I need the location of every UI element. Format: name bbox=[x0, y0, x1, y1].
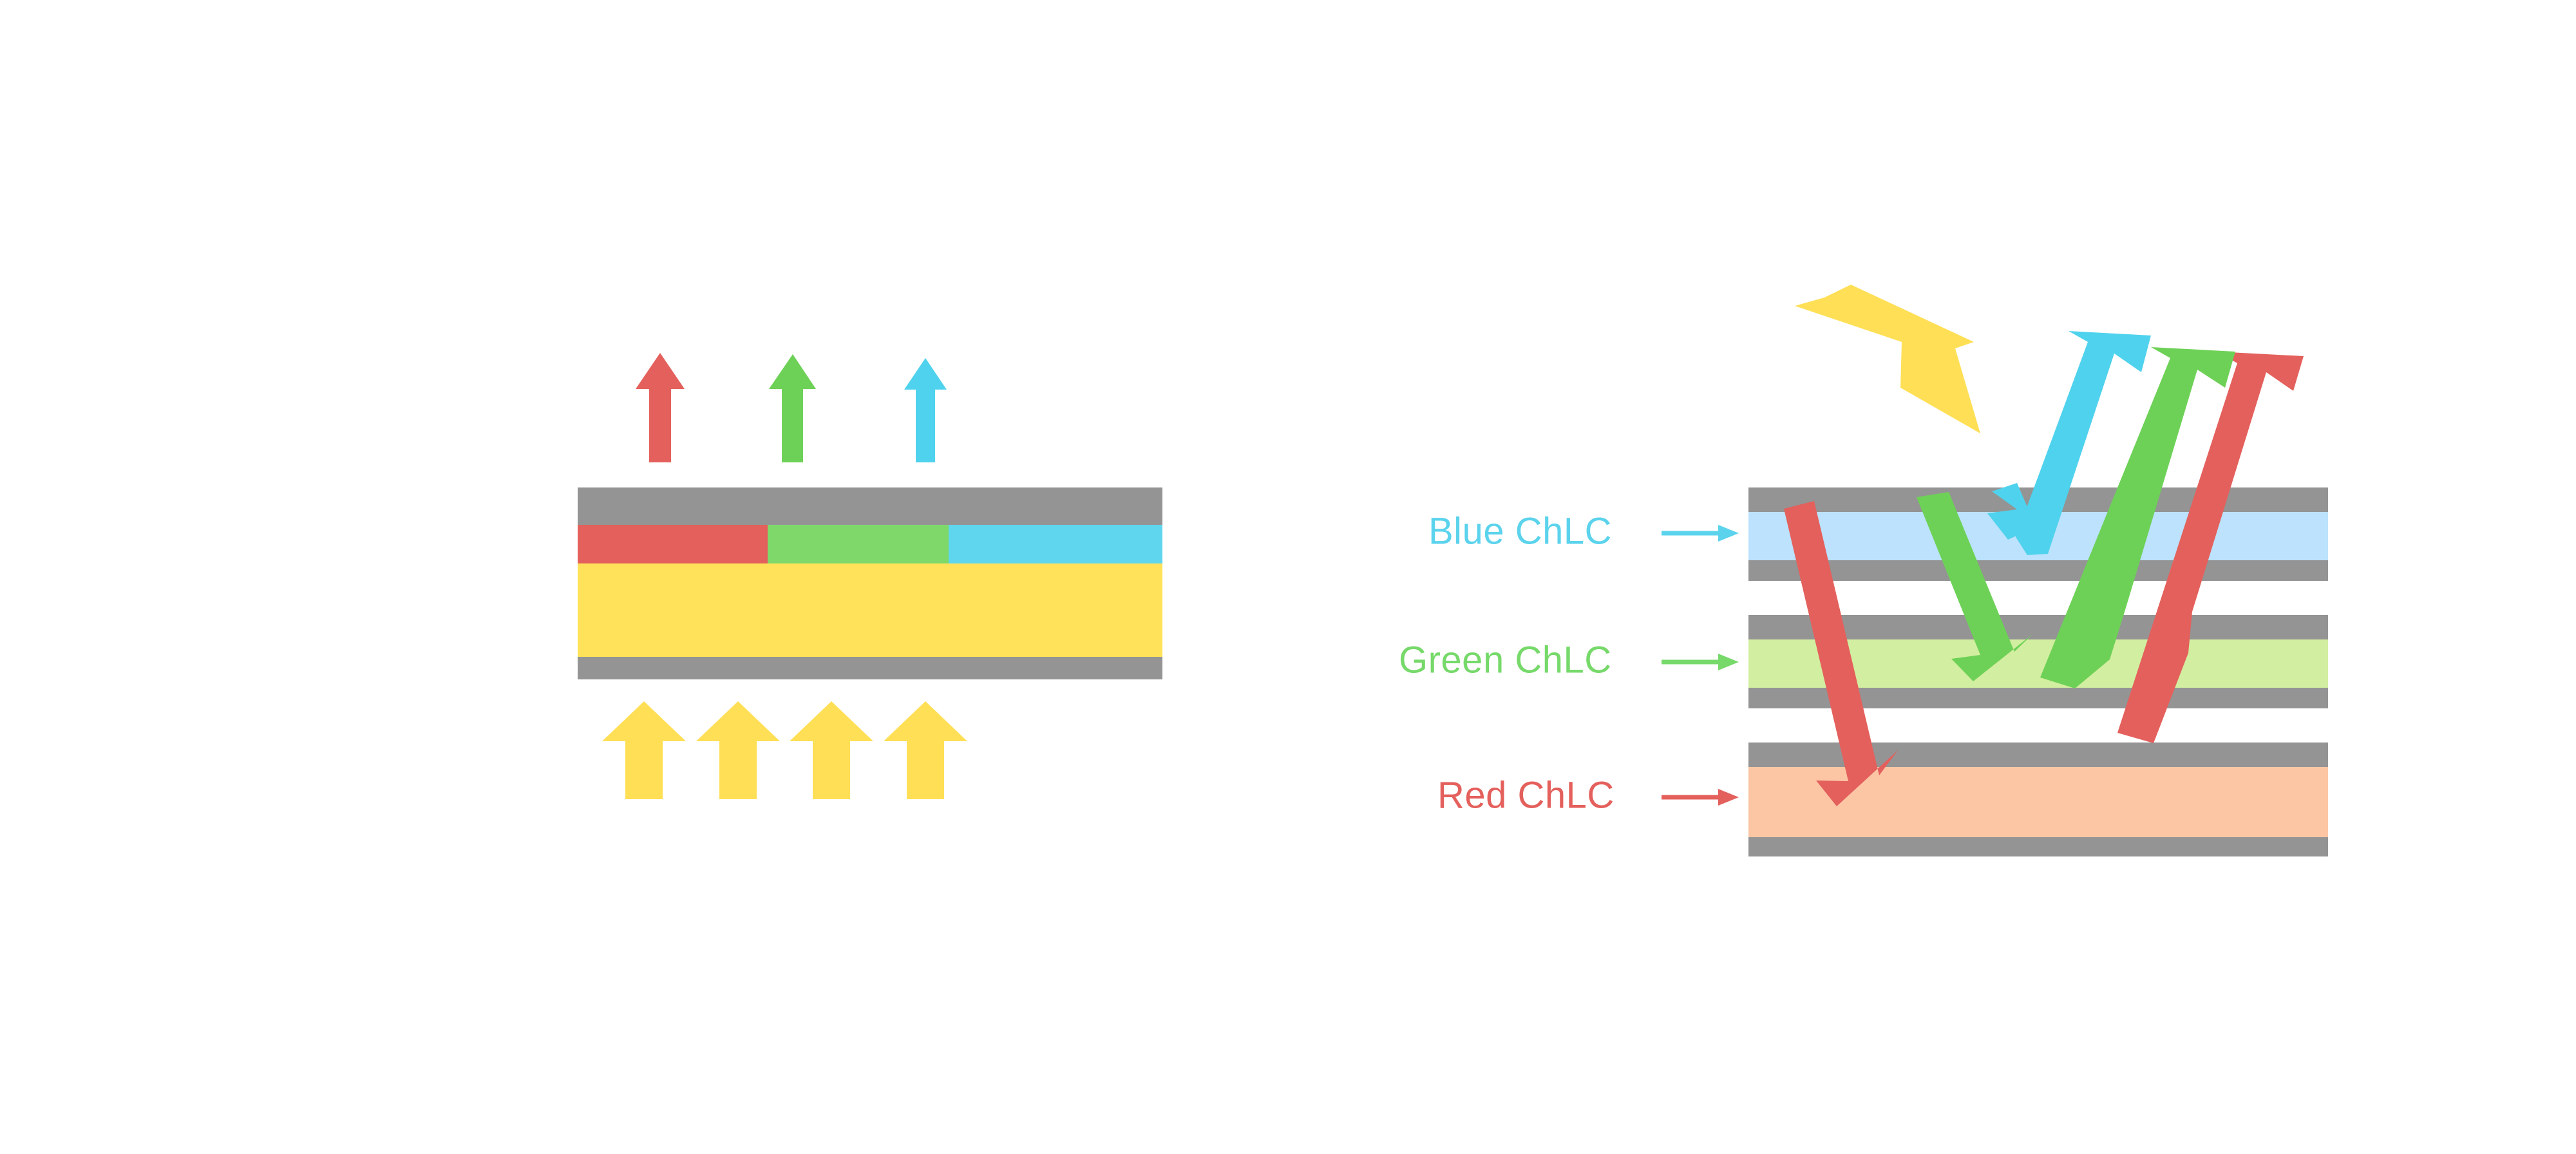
diagram-canvas: Blue ChLC Green ChLC Red ChLC bbox=[0, 0, 2576, 1154]
left-bottom-electrode bbox=[578, 657, 1162, 679]
red-cell-bottom-electrode bbox=[1748, 837, 2328, 856]
green-chlc-label: Green ChLC bbox=[1399, 639, 1612, 681]
left-top-electrode bbox=[578, 487, 1162, 525]
red-cell-top-electrode bbox=[1748, 743, 2328, 767]
chlc-diagram-svg: Blue ChLC Green ChLC Red ChLC bbox=[0, 0, 2576, 1154]
blue-chlc-label: Blue ChLC bbox=[1428, 510, 1612, 552]
backlight-layer bbox=[578, 563, 1162, 657]
color-filter-blue bbox=[949, 525, 1162, 563]
blue-cell-bottom-electrode bbox=[1748, 560, 2328, 581]
red-chlc-label: Red ChLC bbox=[1437, 774, 1615, 816]
color-filter-green bbox=[768, 525, 949, 563]
color-filter-red bbox=[578, 525, 768, 563]
